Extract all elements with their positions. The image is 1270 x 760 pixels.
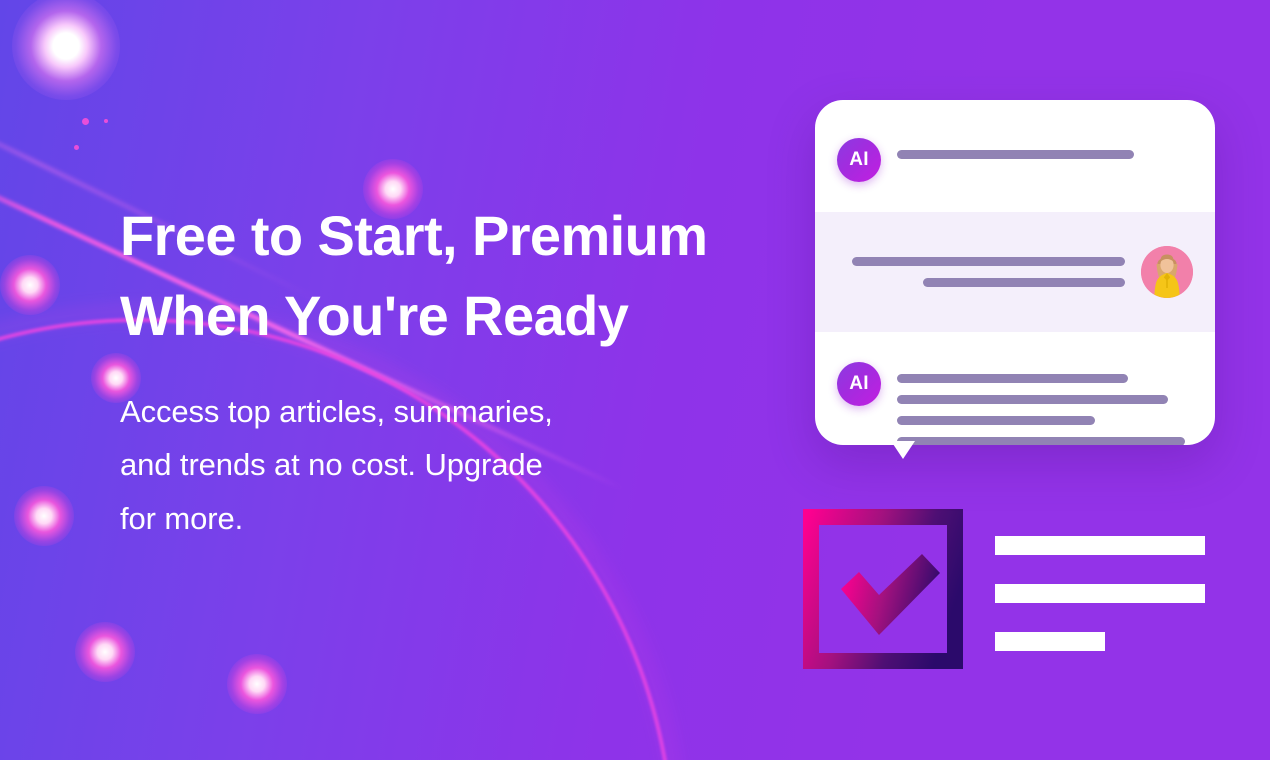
checkmark-icon (803, 509, 963, 669)
glow-dot-icon (227, 654, 287, 714)
glow-orb-icon (12, 0, 120, 100)
placeholder-bar (897, 416, 1095, 425)
accent-dot-icon (74, 145, 79, 150)
document-bar (995, 584, 1205, 603)
placeholder-bar (897, 150, 1134, 159)
message-placeholder-lines (852, 257, 1125, 287)
glow-dot-icon (75, 622, 135, 682)
user-photo-icon (1141, 246, 1193, 298)
promo-banner: Free to Start, Premium When You're Ready… (0, 0, 1270, 760)
placeholder-bar (897, 395, 1168, 404)
document-bar (995, 632, 1105, 651)
page-subtitle: Access top articles, summaries, and tren… (120, 385, 820, 545)
checkbox-graphic (803, 509, 963, 669)
ai-avatar-icon: AI (837, 362, 881, 406)
copy-block: Free to Start, Premium When You're Ready… (120, 196, 820, 545)
message-placeholder-lines (897, 138, 1134, 159)
glow-dot-icon (14, 486, 74, 546)
chat-card-pointer (891, 441, 915, 459)
accent-dot-icon (104, 119, 108, 123)
page-title: Free to Start, Premium When You're Ready (120, 196, 820, 355)
document-bar (995, 536, 1205, 555)
avatar (1141, 246, 1193, 298)
placeholder-bar (852, 257, 1125, 266)
chat-message-ai-1: AI (815, 100, 1215, 182)
chat-card: AI (815, 100, 1215, 445)
placeholder-bar (897, 374, 1128, 383)
placeholder-bar (923, 278, 1125, 287)
glow-dot-icon (0, 255, 60, 315)
message-placeholder-lines (897, 362, 1185, 445)
chat-message-ai-2: AI (815, 332, 1215, 445)
accent-dot-icon (82, 118, 89, 125)
placeholder-bar (897, 437, 1185, 445)
ai-avatar-icon: AI (837, 138, 881, 182)
document-lines (995, 536, 1205, 651)
chat-message-user (815, 212, 1215, 332)
